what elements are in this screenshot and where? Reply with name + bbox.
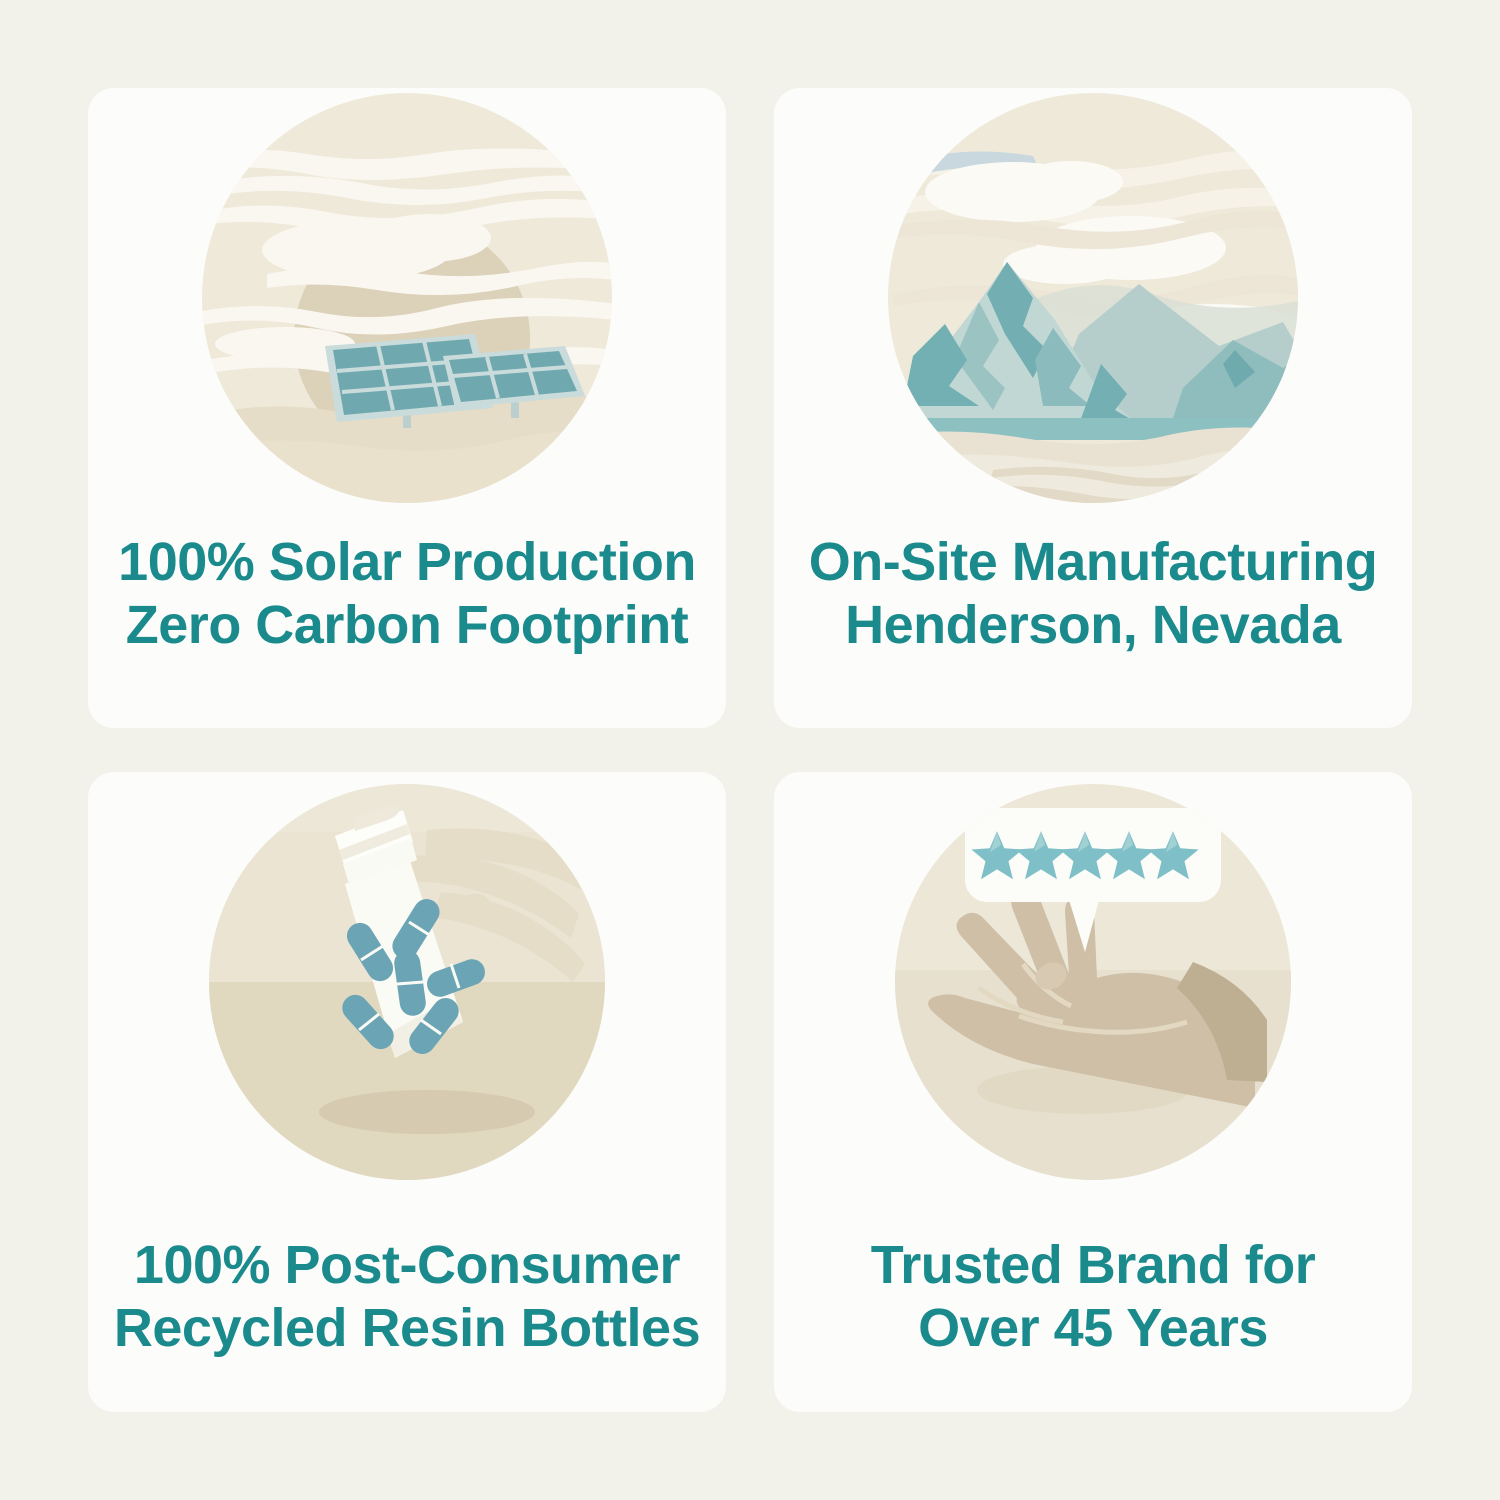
caption-line-1: 100% Post-Consumer <box>102 1234 712 1297</box>
mountain-illustration-wrap <box>774 88 1412 508</box>
trusted-illustration-wrap <box>774 772 1412 1192</box>
caption-line-1: On-Site Manufacturing <box>788 531 1398 594</box>
feature-card-trusted-caption: Trusted Brand for Over 45 Years <box>774 1234 1412 1359</box>
feature-card-recycled[interactable]: 100% Post-Consumer Recycled Resin Bottle… <box>88 772 726 1412</box>
bottle-illustration-wrap <box>88 772 726 1192</box>
caption-line-2: Henderson, Nevada <box>788 594 1398 657</box>
caption-line-1: 100% Solar Production <box>102 531 712 594</box>
caption-line-2: Over 45 Years <box>788 1297 1398 1360</box>
feature-card-manufacturing[interactable]: On-Site Manufacturing Henderson, Nevada <box>774 88 1412 728</box>
feature-card-solar[interactable]: 100% Solar Production Zero Carbon Footpr… <box>88 88 726 728</box>
feature-card-recycled-caption: 100% Post-Consumer Recycled Resin Bottle… <box>88 1234 726 1359</box>
feature-card-manufacturing-caption: On-Site Manufacturing Henderson, Nevada <box>774 531 1412 656</box>
pill-bottle-hand-circle-illustration <box>197 772 617 1192</box>
feature-card-solar-caption: 100% Solar Production Zero Carbon Footpr… <box>88 531 726 656</box>
solar-illustration-wrap <box>88 88 726 508</box>
mountain-landscape-circle-illustration <box>883 88 1303 508</box>
caption-line-2: Zero Carbon Footprint <box>102 594 712 657</box>
hand-holding-five-star-rating-circle-illustration <box>883 772 1303 1192</box>
feature-card-grid: 100% Solar Production Zero Carbon Footpr… <box>88 88 1412 1412</box>
caption-line-2: Recycled Resin Bottles <box>102 1297 712 1360</box>
solar-panels-sunset-circle-illustration <box>197 88 617 508</box>
feature-card-trusted[interactable]: Trusted Brand for Over 45 Years <box>774 772 1412 1412</box>
caption-line-1: Trusted Brand for <box>788 1234 1398 1297</box>
